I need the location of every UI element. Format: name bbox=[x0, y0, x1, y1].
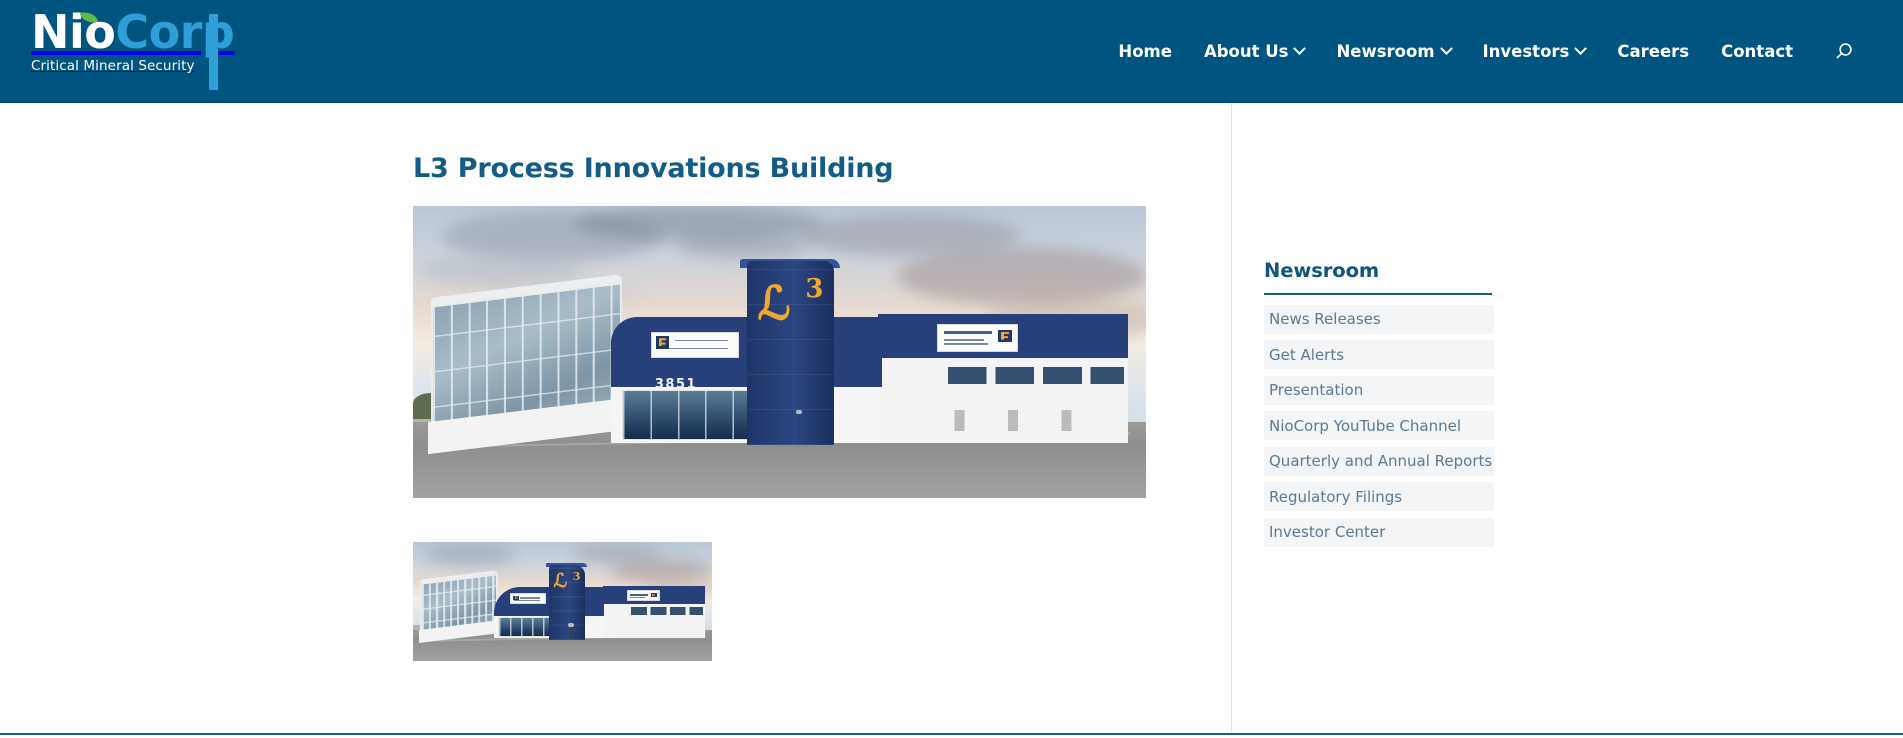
sign-niocorp bbox=[937, 324, 1018, 352]
logo-accent-bar bbox=[209, 14, 218, 90]
sidebar-item-label: Quarterly and Annual Reports bbox=[1269, 451, 1492, 471]
search-icon[interactable] bbox=[1827, 41, 1861, 63]
sidebar: Newsroom News Releases Get Alerts Presen… bbox=[1264, 103, 1494, 553]
sidebar-item-niocorp-youtube-channel[interactable]: NioCorp YouTube Channel bbox=[1264, 411, 1494, 440]
l3-logo-mark: ℒ 3 bbox=[758, 276, 824, 326]
site-header: NioCorp Critical Mineral Security Home A… bbox=[0, 0, 1903, 103]
entry-glazing bbox=[498, 617, 555, 637]
sign-badge-icon bbox=[651, 593, 657, 597]
content-sidebar-divider bbox=[1231, 103, 1232, 735]
sidebar-item-presentation[interactable]: Presentation bbox=[1264, 376, 1494, 405]
right-wing-doors bbox=[911, 410, 1109, 430]
cloud bbox=[425, 544, 515, 564]
nav-item-label: Contact bbox=[1721, 42, 1793, 62]
logo-text-nio: Nio bbox=[31, 5, 115, 59]
nav-item-home[interactable]: Home bbox=[1102, 42, 1188, 62]
page-title: L3 Process Innovations Building bbox=[413, 152, 1148, 186]
nav-item-contact[interactable]: Contact bbox=[1705, 42, 1809, 62]
primary-navigation: Home About Us Newsroom Investors Careers… bbox=[1102, 0, 1861, 103]
cloud bbox=[677, 232, 809, 258]
logo-tagline: Critical Mineral Security bbox=[31, 58, 261, 74]
page-body: L3 Process Innovations Building bbox=[0, 103, 1903, 735]
street-number: 3851 bbox=[655, 377, 697, 392]
building-photo-scene: 3851 ℒ 3 bbox=[413, 206, 1146, 498]
sidebar-title: Newsroom bbox=[1264, 258, 1494, 284]
chevron-down-icon bbox=[1575, 42, 1588, 55]
bollard-light bbox=[799, 413, 801, 442]
nav-item-careers[interactable]: Careers bbox=[1601, 42, 1705, 62]
sidebar-item-label: News Releases bbox=[1269, 309, 1381, 329]
nav-item-label: Home bbox=[1118, 42, 1172, 62]
nav-item-label: Newsroom bbox=[1336, 42, 1434, 62]
sign-process-development bbox=[510, 593, 546, 604]
chevron-down-icon bbox=[1440, 42, 1453, 55]
main-content: L3 Process Innovations Building bbox=[413, 103, 1148, 661]
sidebar-item-label: Presentation bbox=[1269, 380, 1363, 400]
sidebar-title-rule bbox=[1264, 293, 1492, 295]
nav-item-newsroom[interactable]: Newsroom bbox=[1320, 42, 1466, 62]
sidebar-item-regulatory-filings[interactable]: Regulatory Filings bbox=[1264, 482, 1494, 511]
nav-item-label: About Us bbox=[1204, 42, 1289, 62]
site-logo[interactable]: NioCorp Critical Mineral Security bbox=[31, 8, 261, 88]
sidebar-menu: News Releases Get Alerts Presentation Ni… bbox=[1264, 305, 1494, 547]
sidebar-item-label: Investor Center bbox=[1269, 522, 1385, 542]
sidebar-item-label: NioCorp YouTube Channel bbox=[1269, 416, 1461, 436]
entry-glazing bbox=[622, 390, 761, 440]
l3-logo-mark: ℒ 3 bbox=[554, 571, 581, 591]
nav-item-investors[interactable]: Investors bbox=[1467, 42, 1602, 62]
featured-image[interactable]: 3851 ℒ 3 bbox=[413, 206, 1146, 498]
right-wing-windows bbox=[631, 607, 703, 614]
right-wing-windows bbox=[948, 367, 1124, 385]
cloud bbox=[897, 247, 1146, 305]
nav-item-about-us[interactable]: About Us bbox=[1188, 42, 1321, 62]
sign-niocorp bbox=[627, 590, 660, 601]
thumbnail-image[interactable]: ℒ 3 bbox=[413, 542, 712, 661]
sign-badge-icon bbox=[998, 330, 1012, 342]
sign-process-development bbox=[651, 332, 739, 358]
sidebar-item-news-releases[interactable]: News Releases bbox=[1264, 305, 1494, 334]
sidebar-item-quarterly-and-annual-reports[interactable]: Quarterly and Annual Reports bbox=[1264, 447, 1494, 476]
logo-wordmark: NioCorp bbox=[31, 8, 261, 56]
chevron-down-icon bbox=[1294, 42, 1307, 55]
nav-item-label: Investors bbox=[1483, 42, 1570, 62]
sidebar-item-label: Get Alerts bbox=[1269, 345, 1344, 365]
sidebar-item-investor-center[interactable]: Investor Center bbox=[1264, 518, 1494, 547]
sidebar-item-label: Regulatory Filings bbox=[1269, 487, 1402, 507]
sidebar-item-get-alerts[interactable]: Get Alerts bbox=[1264, 340, 1494, 369]
building-photo-scene-thumb: ℒ 3 bbox=[413, 542, 712, 661]
bollard-light bbox=[570, 626, 572, 638]
nav-item-label: Careers bbox=[1617, 42, 1689, 62]
